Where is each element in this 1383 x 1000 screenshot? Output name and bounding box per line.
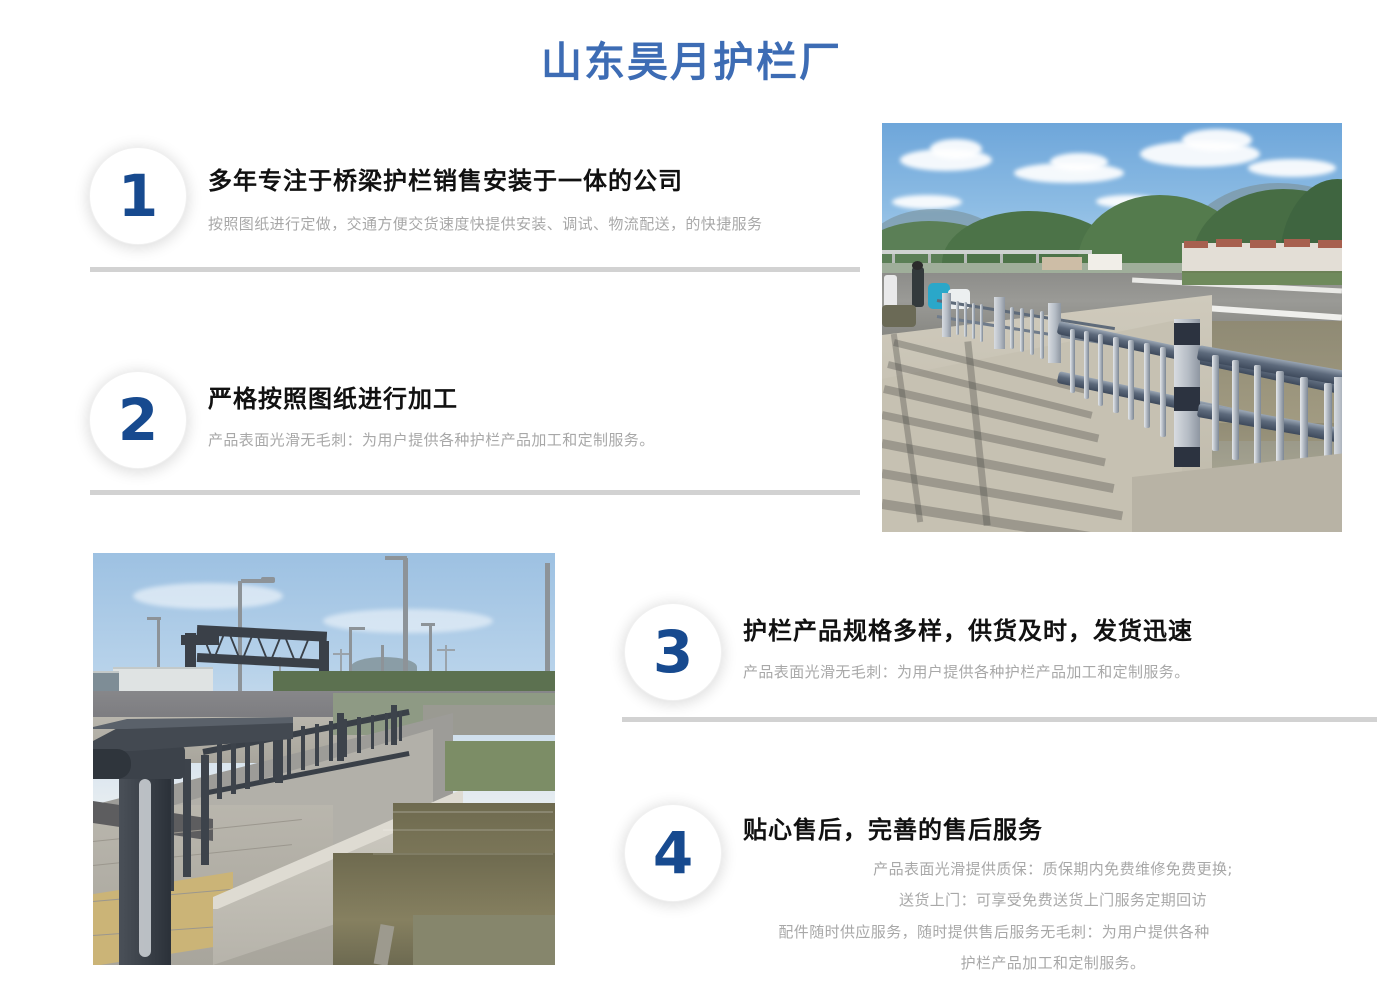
street-lamp-arm — [147, 617, 161, 620]
worker-head — [912, 261, 923, 270]
baluster — [371, 715, 374, 749]
railing-post — [942, 293, 951, 337]
lamp-head — [261, 577, 275, 583]
cloud-icon — [1248, 159, 1336, 177]
post-chevron — [1174, 387, 1200, 411]
cap-end — [93, 749, 131, 779]
baluster — [964, 302, 967, 337]
baluster — [1020, 308, 1024, 352]
railing-post — [994, 297, 1005, 349]
feature-desc-4-line-4: 护栏产品加工和定制服务。 — [743, 952, 1363, 975]
baluster — [1128, 340, 1134, 420]
feature-title-1: 多年专注于桥梁护栏销售安装于一体的公司 — [208, 166, 762, 197]
roof — [1318, 240, 1342, 248]
feature-desc-1: 按照图纸进行定做，交通方便交货速度快提供安装、调试、物流配送，的快捷服务 — [208, 213, 762, 236]
feature-title-2: 严格按照图纸进行加工 — [208, 384, 655, 415]
feature-number-badge-4: 4 — [625, 805, 721, 901]
baluster — [385, 713, 388, 745]
baluster — [315, 724, 319, 766]
feature-desc-3: 产品表面光滑无毛刺：为用户提供各种护栏产品加工和定制服务。 — [743, 661, 1193, 684]
feature-item-2: 2 严格按照图纸进行加工 产品表面光滑无毛刺：为用户提供各种护栏产品加工和定制服… — [90, 372, 880, 482]
power-pylon — [333, 653, 349, 655]
baluster — [399, 711, 402, 741]
baluster — [217, 743, 222, 799]
water-ripple — [393, 811, 553, 813]
feature-item-4: 4 贴心售后，完善的售后服务 产品表面光滑提供质保：质保期内免费维修免费更换; … — [625, 805, 1380, 995]
feature-title-4: 贴心售后，完善的售后服务 — [743, 815, 1363, 846]
roof — [1216, 239, 1242, 247]
newel-highlight-strip — [139, 779, 151, 957]
baluster — [183, 759, 191, 877]
railing-post — [1174, 319, 1200, 467]
baluster — [972, 303, 975, 339]
baluster — [259, 734, 264, 784]
baluster — [1030, 309, 1034, 355]
baluster — [1254, 365, 1261, 469]
water-ripple — [383, 829, 553, 831]
feature-desc-2: 产品表面光滑无毛刺：为用户提供各种护栏产品加工和定制服务。 — [208, 429, 655, 452]
feature-number-4: 4 — [653, 824, 693, 882]
baluster — [1232, 360, 1239, 460]
divider-2 — [90, 490, 860, 495]
feature-title-3: 护栏产品规格多样，供货及时，发货迅速 — [743, 616, 1193, 647]
gantry-bracket — [181, 635, 219, 645]
water-ripple — [373, 853, 553, 855]
feature-number-badge-1: 1 — [90, 148, 186, 244]
feature-number-1: 1 — [118, 167, 158, 225]
baluster — [329, 721, 333, 761]
baluster — [956, 301, 959, 335]
feature-number-2: 2 — [118, 391, 158, 449]
street-lamp-arm — [421, 623, 435, 626]
cloud-icon — [892, 195, 962, 209]
cloud-icon — [930, 139, 982, 159]
baluster — [245, 737, 250, 789]
bridge-railing-mountain-photo — [882, 123, 1342, 532]
baluster — [1113, 337, 1119, 413]
baluster — [1070, 329, 1075, 393]
roof — [1184, 241, 1208, 248]
feature-item-1: 1 多年专注于桥梁护栏销售安装于一体的公司 按照图纸进行定做，交通方便交货速度快… — [90, 148, 880, 258]
feature-number-3: 3 — [653, 623, 693, 681]
baluster — [201, 755, 209, 865]
baluster — [1212, 355, 1219, 451]
building — [93, 671, 119, 693]
roadside-grass — [1182, 273, 1342, 285]
baluster — [1084, 331, 1089, 399]
feature-number-badge-3: 3 — [625, 604, 721, 700]
baluster — [357, 717, 361, 753]
cloud-icon — [133, 583, 283, 609]
river-bank — [413, 915, 555, 965]
river-bank-grass — [445, 741, 555, 791]
roof — [1284, 239, 1310, 247]
cloud-icon — [1182, 129, 1252, 151]
page-title: 山东昊月护栏厂 — [0, 28, 1383, 88]
feature-desc-4-line-2: 送货上门：可享受免费送货上门服务定期回访 — [743, 889, 1363, 912]
poster-page: 山东昊月护栏厂 — [0, 0, 1383, 1000]
factory-building — [113, 667, 213, 693]
equipment — [882, 305, 916, 327]
baluster — [980, 304, 983, 342]
roof — [1250, 240, 1276, 248]
post-chevron — [1174, 447, 1200, 467]
baluster — [1098, 334, 1103, 406]
baluster — [1144, 343, 1150, 428]
building — [1088, 254, 1122, 270]
street-lamp-arm — [349, 627, 365, 630]
bridge-railing-canal-photo — [93, 553, 555, 965]
baluster — [301, 726, 305, 770]
worker — [884, 275, 897, 309]
divider-3 — [622, 717, 1377, 722]
baluster — [1010, 307, 1014, 349]
baluster — [1040, 311, 1044, 359]
baluster — [231, 740, 236, 794]
post-chevron — [1174, 323, 1200, 345]
worker — [912, 267, 924, 307]
viaduct-deck — [882, 250, 1092, 254]
street-lamp-arm — [385, 556, 407, 560]
feature-item-3: 3 护栏产品规格多样，供货及时，发货迅速 产品表面光滑无毛刺：为用户提供各种护栏… — [625, 604, 1380, 714]
power-pylon — [437, 649, 455, 651]
feature-desc-4-line-3: 配件随时供应服务，随时提供售后服务无毛刺：为用户提供各种 — [625, 921, 1363, 944]
railing-post — [391, 705, 397, 745]
building — [1042, 257, 1082, 270]
railing-post — [337, 713, 344, 761]
cloud-icon — [1050, 153, 1108, 171]
divider-1 — [90, 267, 860, 272]
feature-number-badge-2: 2 — [90, 372, 186, 468]
baluster — [1160, 347, 1166, 437]
feature-desc-4-line-1: 产品表面光滑提供质保：质保期内免费维修免费更换; — [743, 858, 1363, 881]
